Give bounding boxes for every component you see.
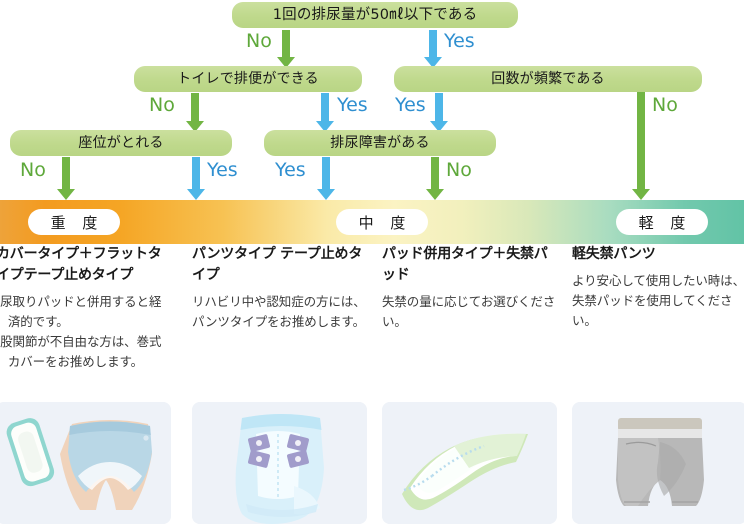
- product-description: ・尿取りパッドと併用すると経済的です。 ・股関節が不自由な方は、巻式カバーをお推…: [0, 292, 171, 372]
- product-description-line: 失禁の量に応じてお選びください。: [382, 292, 557, 332]
- arrow-toilet-no: [185, 93, 205, 132]
- flow-node-volume[interactable]: 1回の排尿量が50㎖以下である: [232, 2, 518, 28]
- severity-badge-light-label: 軽 度: [633, 212, 692, 233]
- flow-node-frequency-label: 回数が頻繁である: [491, 69, 604, 90]
- severity-badge-severe-label: 重 度: [45, 212, 104, 233]
- decision-flowchart: 1回の排尿量が50㎖以下である No Yes トイレで排便ができる 回数が頻繁で…: [0, 0, 744, 200]
- product-photo-pad-combo: [382, 402, 557, 524]
- product-description: 失禁の量に応じてお選びください。: [382, 292, 557, 332]
- flow-node-frequency[interactable]: 回数が頻繁である: [394, 66, 702, 92]
- flat-pad-and-cover-pants-photo: [0, 402, 171, 524]
- product-description-line: ・尿取りパッドと併用すると経済的です。: [0, 292, 171, 332]
- flow-node-voiding-label: 排尿障害がある: [330, 133, 429, 154]
- arrow-shaft: [431, 157, 439, 189]
- arrow-head: [187, 189, 205, 200]
- severity-badge-moderate-label: 中 度: [353, 212, 412, 233]
- tape-type-diaper-photo: [192, 402, 367, 524]
- product-recommendation-columns: カバータイプ＋フラットタイプテープ止めタイプ ・尿取りパッドと併用すると経済的で…: [0, 244, 744, 524]
- arrow-head: [632, 189, 650, 200]
- arrow-label-volume-yes: Yes: [444, 32, 475, 51]
- light-incontinence-boxer-briefs-photo: [572, 402, 744, 524]
- arrow-sitting-no: [56, 157, 76, 200]
- product-column-pad-combo: パッド併用タイプ＋失禁パッド 失禁の量に応じてお選びください。: [382, 244, 557, 332]
- arrow-volume-no: [276, 30, 296, 68]
- flow-node-volume-label: 1回の排尿量が50㎖以下である: [273, 5, 478, 26]
- arrow-shaft: [191, 93, 199, 121]
- arrow-shaft: [322, 157, 330, 189]
- arrow-shaft: [321, 93, 329, 121]
- severity-badge-moderate: 中 度: [336, 209, 428, 235]
- arrow-volume-yes: [423, 30, 443, 68]
- arrow-label-toilet-yes: Yes: [337, 96, 368, 115]
- severity-badge-light: 軽 度: [616, 209, 708, 235]
- product-description-line: リハビリ中や認知症の方には、パンツタイプをお推めします。: [192, 292, 367, 332]
- arrow-label-frequency-yes: Yes: [395, 96, 426, 115]
- product-description-line: より安心して使用したい時は、失禁パッドを使用してください。: [572, 271, 744, 331]
- product-description: リハビリ中や認知症の方には、パンツタイプをお推めします。: [192, 292, 367, 332]
- product-title: パッド併用タイプ＋失禁パッド: [382, 244, 557, 286]
- severity-gradient-band: 重 度 中 度 軽 度: [0, 200, 744, 244]
- product-photo-light-pants: [572, 402, 744, 524]
- flow-node-toilet-label: トイレで排便ができる: [177, 69, 319, 90]
- arrow-label-volume-no: No: [246, 32, 272, 51]
- arrow-head: [426, 189, 444, 200]
- arrow-label-sitting-no: No: [20, 161, 46, 180]
- product-photo-cover-flat: [0, 402, 171, 524]
- product-description: より安心して使用したい時は、失禁パッドを使用してください。: [572, 271, 744, 331]
- flow-node-sitting-label: 座位がとれる: [78, 133, 163, 154]
- arrow-head: [317, 189, 335, 200]
- arrow-shaft: [435, 93, 443, 121]
- arrow-frequency-yes: [429, 93, 449, 132]
- arrow-shaft: [637, 92, 645, 189]
- arrow-head: [57, 189, 75, 200]
- product-title: カバータイプ＋フラットタイプテープ止めタイプ: [0, 244, 171, 286]
- product-column-light-pants: 軽失禁パンツ より安心して使用したい時は、失禁パッドを使用してください。: [572, 244, 744, 331]
- severity-badge-severe: 重 度: [28, 209, 120, 235]
- arrow-label-toilet-no: No: [149, 96, 175, 115]
- product-title: パンツタイプ テープ止めタイプ: [192, 244, 367, 286]
- arrow-frequency-no: [631, 92, 651, 200]
- arrow-shaft: [62, 157, 70, 189]
- product-title: 軽失禁パンツ: [572, 244, 744, 265]
- arrow-voiding-yes: [316, 157, 336, 200]
- arrow-label-sitting-yes: Yes: [207, 161, 238, 180]
- flow-node-toilet[interactable]: トイレで排便ができる: [134, 66, 362, 92]
- flow-node-sitting[interactable]: 座位がとれる: [10, 130, 232, 156]
- arrow-voiding-no: [425, 157, 445, 200]
- arrow-label-voiding-no: No: [446, 161, 472, 180]
- arrow-shaft: [429, 30, 437, 57]
- product-photo-pants-tape: [192, 402, 367, 524]
- arrow-label-voiding-yes: Yes: [275, 161, 306, 180]
- arrow-shaft: [282, 30, 290, 57]
- arrow-sitting-yes: [186, 157, 206, 200]
- incontinence-pad-photo: [382, 402, 557, 524]
- product-description-line: ・股関節が不自由な方は、巻式カバーをお推めします。: [0, 332, 171, 372]
- product-column-cover-flat: カバータイプ＋フラットタイプテープ止めタイプ ・尿取りパッドと併用すると経済的で…: [0, 244, 171, 372]
- flow-node-voiding[interactable]: 排尿障害がある: [264, 130, 496, 156]
- arrow-shaft: [192, 157, 200, 189]
- arrow-toilet-yes: [315, 93, 335, 132]
- arrow-label-frequency-no: No: [652, 96, 678, 115]
- product-column-pants-tape: パンツタイプ テープ止めタイプ リハビリ中や認知症の方には、パンツタイプをお推め…: [192, 244, 367, 332]
